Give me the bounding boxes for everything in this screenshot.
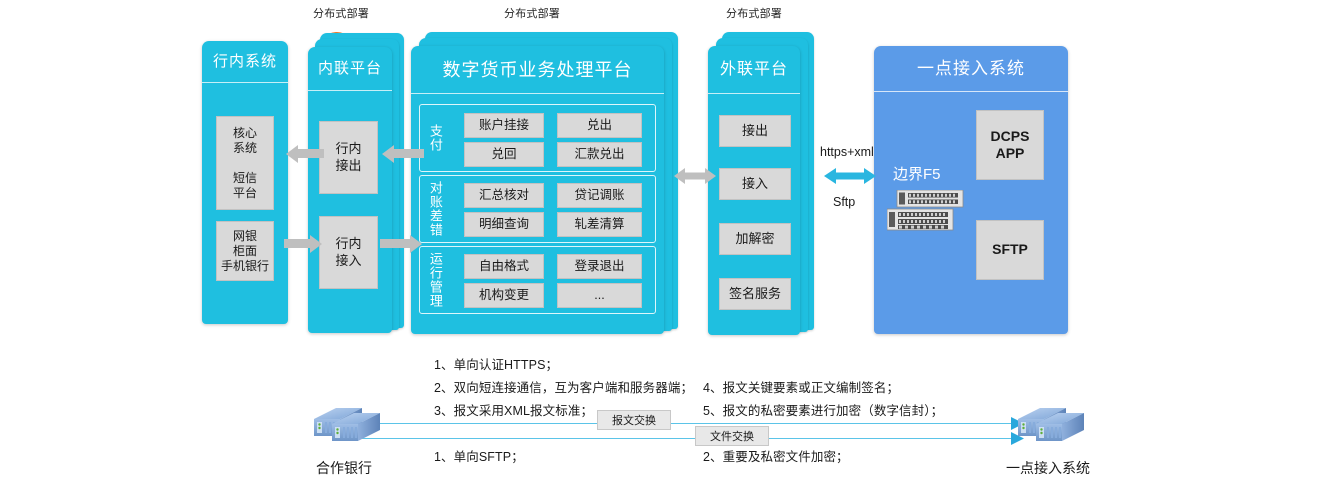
server-label-partner-bank: 合作银行 <box>306 458 382 478</box>
box-remittance-exchange-out[interactable]: 汇款兑出 <box>557 142 642 167</box>
arrow-intrabank-to-intranet-in <box>284 235 324 253</box>
group-label-operations: 运行管理 <box>424 246 446 314</box>
protocol-label-sftp: Sftp <box>833 195 855 209</box>
protocol-label-https-xml: https+xml <box>820 145 874 159</box>
box-sftp[interactable]: SFTP <box>976 220 1044 280</box>
box-credit-adjustment[interactable]: 贷记调账 <box>557 183 642 208</box>
panel-title-external-platform: 外联平台 <box>708 46 800 94</box>
flowline-file-exchange <box>360 438 1017 439</box>
network-switch-icon <box>887 190 965 232</box>
distributed-deploy-label-dcep: 分布式部署 <box>504 5 560 21</box>
note-left-3: 3、报文采用XML报文标准； <box>434 400 593 419</box>
panel-title-intra-bank-system: 行内系统 <box>202 41 288 83</box>
note-bottom-right-2: 2、重要及私密文件加密； <box>703 446 849 465</box>
box-exchange-back[interactable]: 兑回 <box>464 142 544 167</box>
box-intranet-in[interactable]: 行内 接入 <box>319 216 378 289</box>
box-summary-check[interactable]: 汇总核对 <box>464 183 544 208</box>
server-icon-single-point-access <box>1010 402 1086 450</box>
box-exchange-out[interactable]: 兑出 <box>557 113 642 138</box>
group-label-reconciliation: 对账差错 <box>424 175 446 243</box>
arrow-dcep-external-bidirectional <box>672 166 718 186</box>
group-label-payment: 支付 <box>424 104 446 172</box>
architecture-diagram: 分布式部署 分布式部署 分布式部署 行内系统 核心 系统 短信 平台 网银 柜面… <box>0 0 1333 483</box>
note-right-5: 5、报文的私密要素进行加密（数字信封）； <box>703 400 943 419</box>
arrow-intranet-to-dcep-in <box>380 235 424 253</box>
box-external-in[interactable]: 接入 <box>719 168 791 200</box>
box-external-out[interactable]: 接出 <box>719 115 791 147</box>
distributed-deploy-label-external: 分布式部署 <box>726 5 782 21</box>
box-dcps-app[interactable]: DCPS APP <box>976 110 1044 180</box>
note-bottom-left-1: 1、单向SFTP； <box>434 446 524 465</box>
server-label-single-point-access: 一点接入系统 <box>1000 458 1096 478</box>
note-right-4: 4、报文关键要素或正文编制签名； <box>703 377 899 396</box>
panel-title-dcep-business-platform: 数字货币业务处理平台 <box>411 46 664 94</box>
distributed-deploy-label-intranet: 分布式部署 <box>313 5 369 21</box>
box-encrypt-decrypt[interactable]: 加解密 <box>719 223 791 255</box>
box-account-link[interactable]: 账户挂接 <box>464 113 544 138</box>
arrow-dcep-to-intranet-out <box>380 145 424 163</box>
box-login-logout[interactable]: 登录退出 <box>557 254 642 279</box>
panel-title-single-point-access-system: 一点接入系统 <box>874 46 1068 92</box>
label-boundary-f5: 边界F5 <box>893 163 941 184</box>
note-left-2: 2、双向短连接通信，互为客户端和服务器端； <box>434 377 693 396</box>
server-icon-partner-bank <box>306 402 382 450</box>
panel-title-intranet-platform: 内联平台 <box>308 47 392 91</box>
label-message-exchange[interactable]: 报文交换 <box>597 410 671 430</box>
box-more-ellipsis[interactable]: ... <box>557 283 642 308</box>
note-left-1: 1、单向认证HTTPS； <box>434 354 558 373</box>
box-intranet-out[interactable]: 行内 接出 <box>319 121 378 194</box>
box-netting-settlement[interactable]: 轧差清算 <box>557 212 642 237</box>
flowline-message-exchange <box>360 423 1017 424</box>
box-free-format[interactable]: 自由格式 <box>464 254 544 279</box>
box-institution-change[interactable]: 机构变更 <box>464 283 544 308</box>
box-ebank-counter-mobile[interactable]: 网银 柜面 手机银行 <box>216 221 274 281</box>
label-file-exchange[interactable]: 文件交换 <box>695 426 769 446</box>
arrow-protocol-bidirectional <box>822 165 878 187</box>
box-signature-service[interactable]: 签名服务 <box>719 278 791 310</box>
box-core-sms-platform[interactable]: 核心 系统 短信 平台 <box>216 116 274 210</box>
box-detail-query[interactable]: 明细查询 <box>464 212 544 237</box>
arrow-intranet-to-intrabank-out <box>284 145 324 163</box>
